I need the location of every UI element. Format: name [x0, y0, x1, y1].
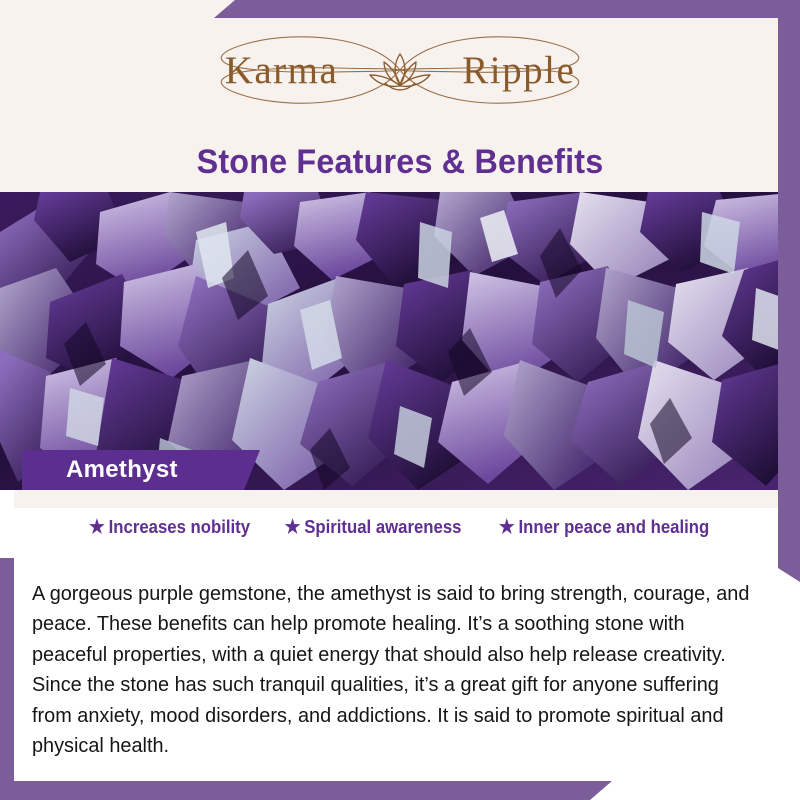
lotus-icon: [363, 48, 437, 96]
benefit-label-1: Increases nobility: [109, 517, 250, 538]
star-icon: ★: [89, 518, 105, 537]
benefit-item-1: ★ Increases nobility: [89, 517, 250, 538]
star-icon: ★: [285, 518, 301, 537]
frame-bottom-left: [0, 781, 612, 800]
benefit-item-3: ★ Inner peace and healing: [498, 517, 708, 538]
frame-top-right: [214, 0, 800, 18]
hero-image: [0, 192, 800, 490]
content-divider: [14, 490, 778, 508]
brand-logo: Karma Ripple: [0, 28, 800, 112]
benefit-label-2: Spiritual awareness: [305, 517, 462, 538]
amethyst-crystal-illustration: [0, 192, 800, 490]
benefit-label-3: Inner peace and healing: [518, 517, 709, 538]
frame-right: [778, 0, 800, 582]
poster-canvas: Karma Ripple Stone Features & Benefits: [0, 0, 800, 800]
benefits-list: ★ Increases nobility ★ Spiritual awarene…: [0, 517, 800, 538]
frame-left: [0, 558, 14, 800]
benefit-item-2: ★ Spiritual awareness: [285, 517, 462, 538]
brand-word-right: Ripple: [462, 51, 575, 90]
star-icon: ★: [498, 518, 514, 537]
stone-name-label: Amethyst: [22, 456, 178, 484]
page-title: Stone Features & Benefits: [20, 143, 780, 182]
stone-description: A gorgeous purple gemstone, the amethyst…: [32, 579, 752, 762]
brand-word-left: Karma: [225, 51, 339, 90]
stone-name-banner: Amethyst: [22, 450, 260, 490]
